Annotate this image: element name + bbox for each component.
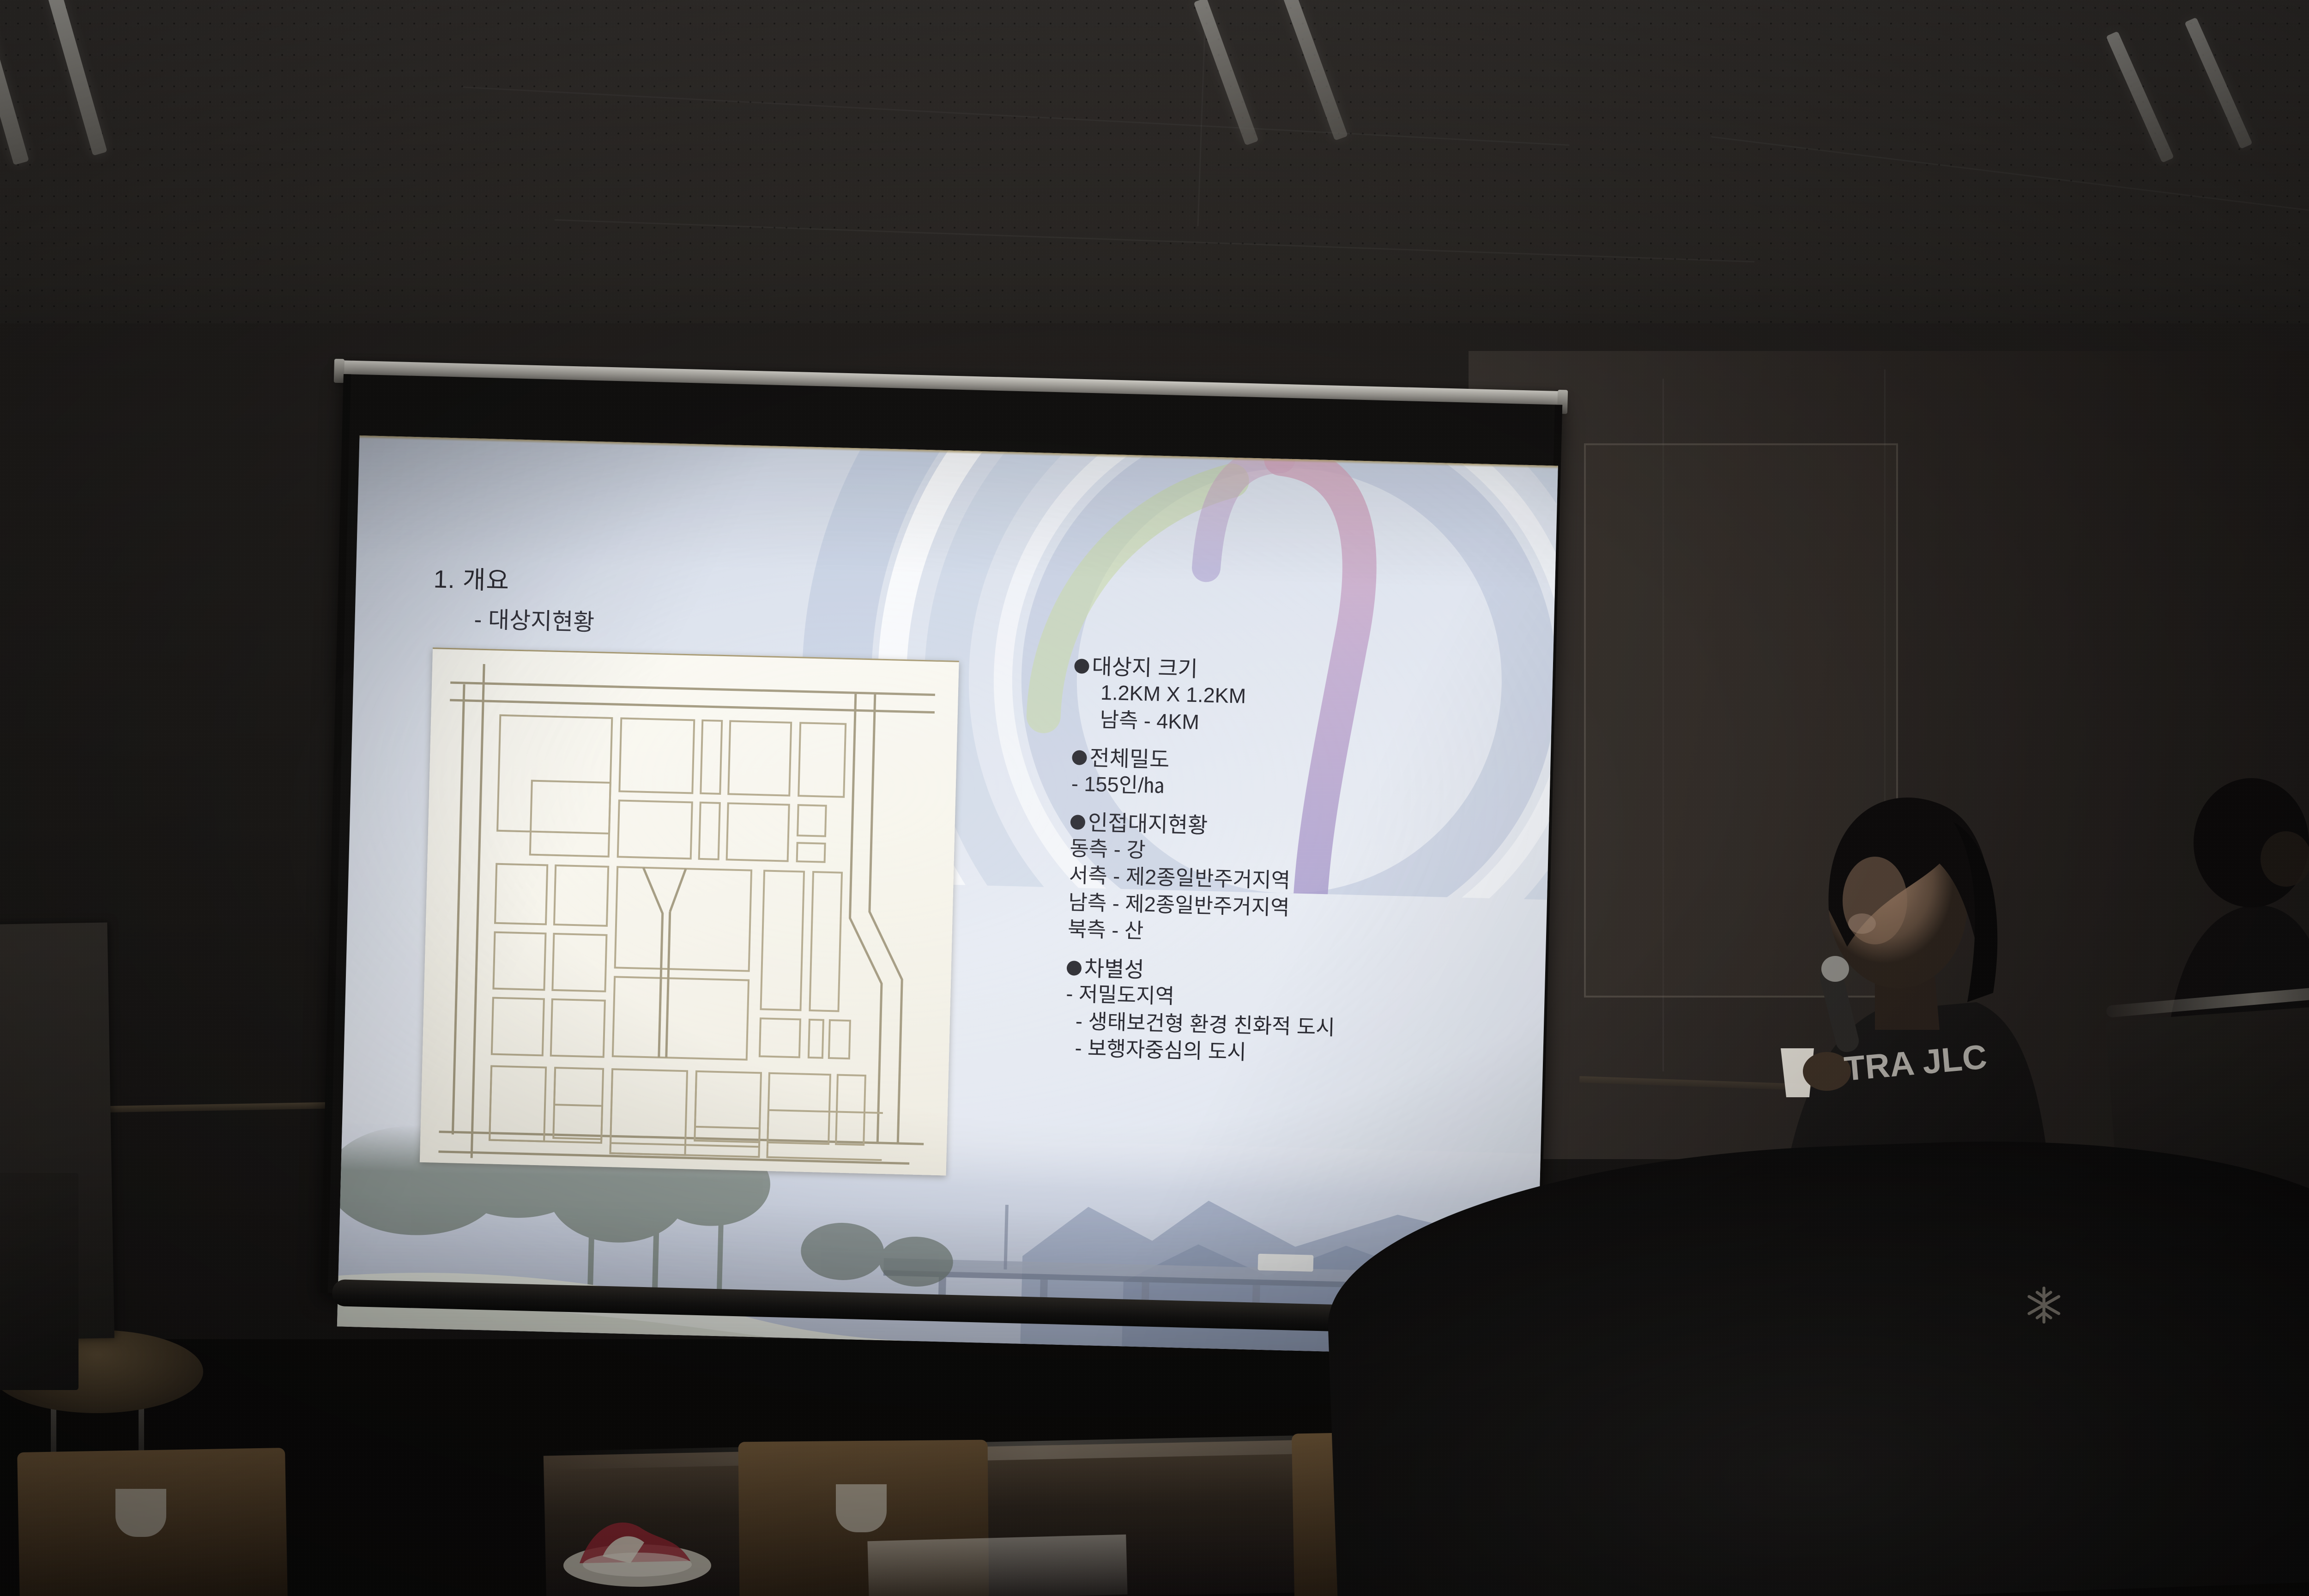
bullet-dot-icon: [1067, 961, 1082, 976]
slide-title: 1. 개요: [433, 558, 510, 597]
bullet-heading-text: 차별성: [1084, 955, 1144, 983]
chair-handle-cutout: [115, 1496, 166, 1537]
bullet-heading-text: 인접대지현황: [1088, 810, 1208, 839]
slide-subtitle: - 대상지현황: [474, 601, 595, 637]
projection-screen: 1. 개요 - 대상지현황: [320, 374, 1563, 1324]
bullet-block-site-size: 대상지 크기 1.2KM X 1.2KM 남측 - 4KM: [1073, 653, 1558, 745]
bullet-block-density: 전체밀도 - 155인/㏊: [1071, 745, 1557, 810]
site-plan-drawing: [420, 649, 959, 1175]
snack-bowl: [561, 1510, 713, 1589]
monitor: [0, 1173, 79, 1390]
bullet-heading-text: 대상지 크기: [1092, 653, 1198, 682]
projected-slide: 1. 개요 - 대상지현황: [337, 435, 1558, 1357]
bullet-block-adjacent-land: 인접대지현황 동측 - 강 서측 - 제2종일반주거지역 남측 - 제2종일반주…: [1067, 810, 1555, 955]
bullet-dot-icon: [1072, 750, 1087, 765]
paper-handout: [867, 1535, 1127, 1596]
photo-scene: 1. 개요 - 대상지현황: [0, 0, 2309, 1596]
site-plan-map: [420, 647, 959, 1175]
bullet-dot-icon: [1070, 815, 1086, 830]
bullet-heading-text: 전체밀도: [1089, 745, 1170, 773]
snowflake-emblem-icon: [2023, 1284, 2065, 1326]
bullet-block-distinctiveness: 차별성 - 저밀도지역 - 생태보건형 환경 친화적 도시 - 보행자중심의 도…: [1064, 955, 1552, 1074]
chair-handle-cutout: [836, 1492, 887, 1532]
bullet-dot-icon: [1074, 659, 1089, 674]
slide-bullet-list: 대상지 크기 1.2KM X 1.2KM 남측 - 4KM 전체밀도 - 155…: [1064, 653, 1558, 1086]
